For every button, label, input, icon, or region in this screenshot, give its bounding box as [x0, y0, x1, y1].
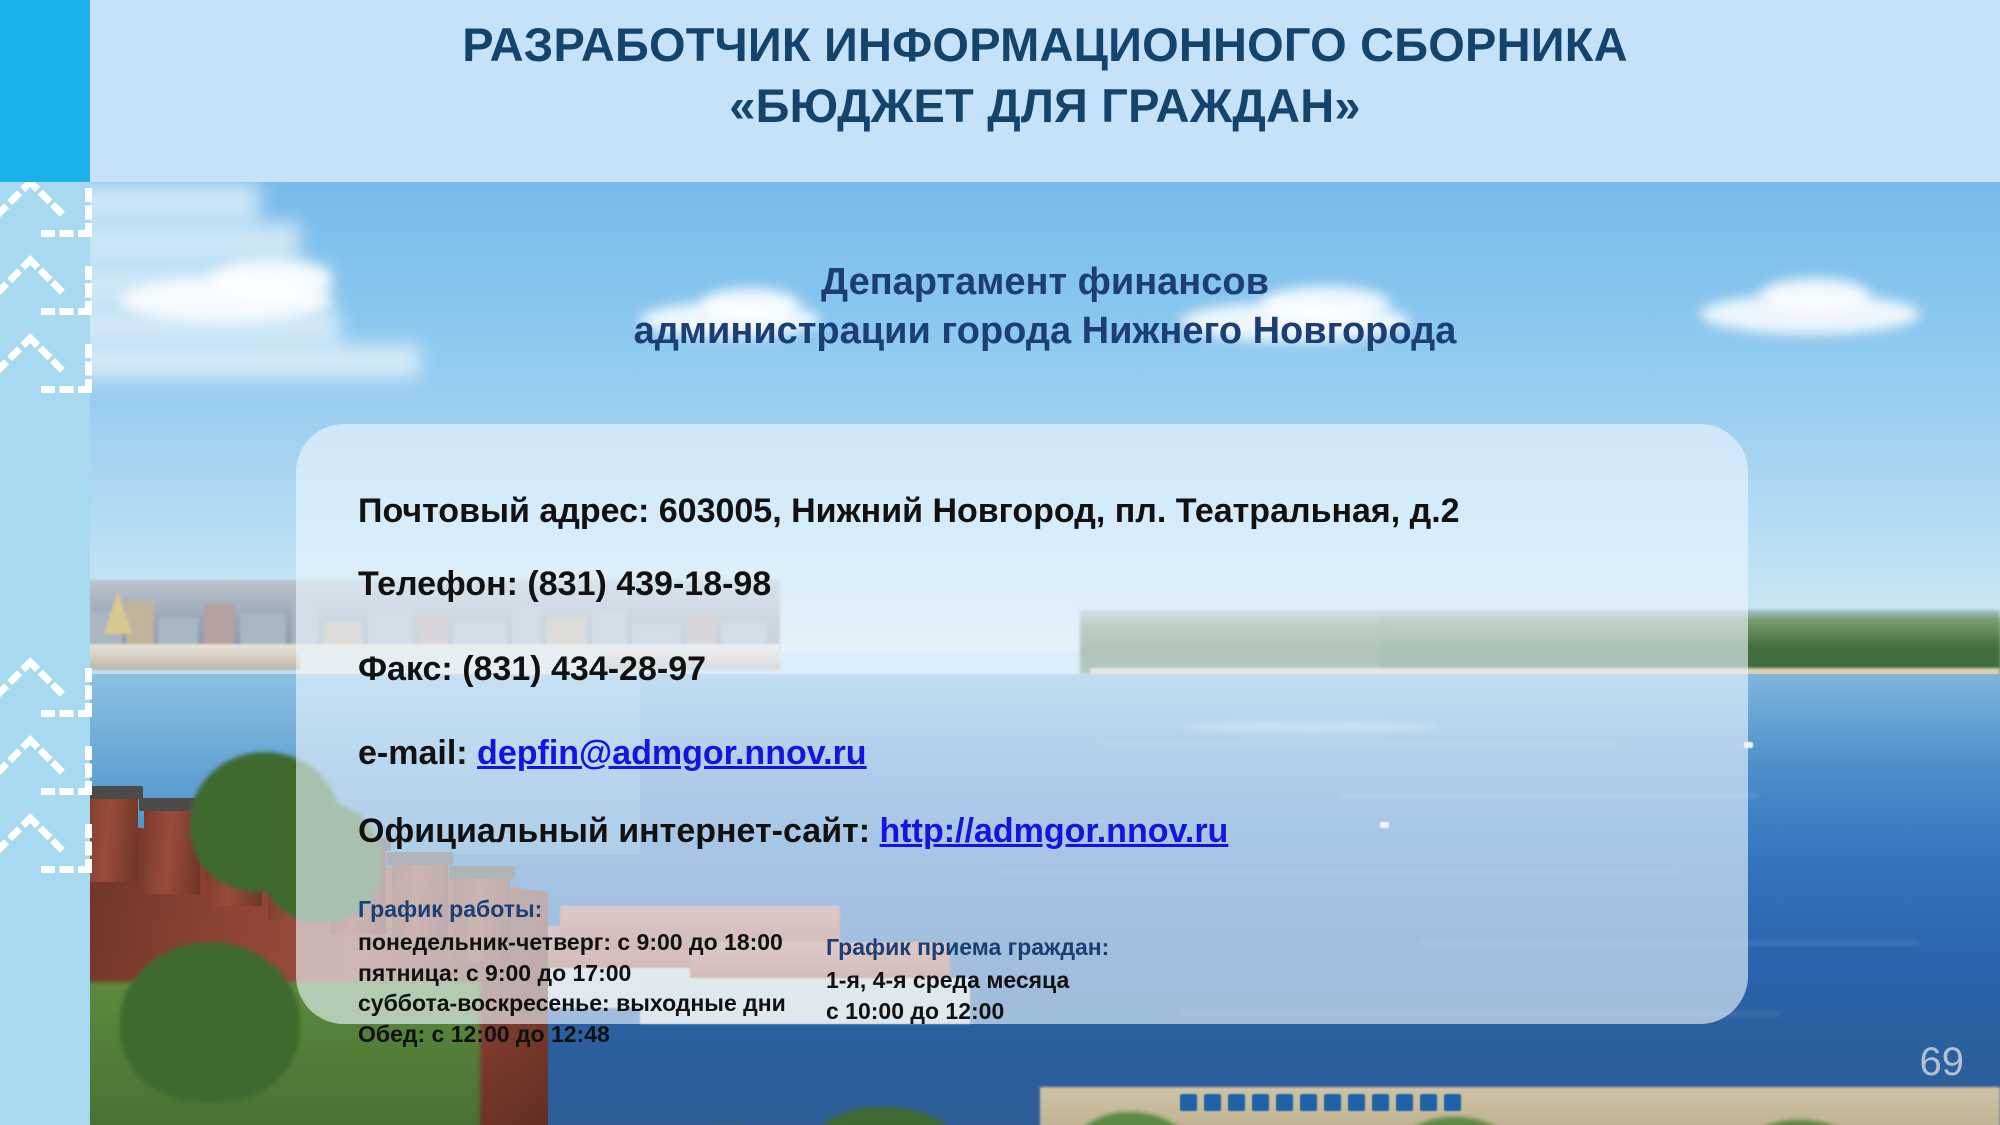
- phone-value: (831) 439-18-98: [527, 565, 771, 603]
- reception-schedule-row: 1-я, 4-я среда месяца: [826, 967, 1069, 993]
- contact-card: Почтовый адрес: 603005, Нижний Новгород,…: [296, 424, 1748, 1024]
- postal-address-value: 603005, Нижний Новгород, пл. Театральная…: [659, 492, 1460, 530]
- website-label: Официальный интернет-сайт:: [358, 812, 880, 850]
- slide-header: РАЗРАБОТЧИК ИНФОРМАЦИОННОГО СБОРНИКА «БЮ…: [0, 0, 2000, 182]
- page-title-line1: РАЗРАБОТЧИК ИНФОРМАЦИОННОГО СБОРНИКА: [462, 18, 1628, 71]
- header-accent-bar: [0, 0, 90, 182]
- left-rail: [0, 182, 90, 1125]
- fax-label: Факс:: [358, 650, 462, 688]
- reception-schedule-heading: График приема граждан:: [826, 932, 1109, 963]
- chevron-down-icon: [0, 340, 90, 402]
- postal-address-row: Почтовый адрес: 603005, Нижний Новгород,…: [358, 494, 1460, 528]
- website-link[interactable]: http://admgor.nnov.ru: [880, 812, 1229, 850]
- cabin: [1420, 1094, 1437, 1111]
- chevron-down-icon: [0, 664, 90, 726]
- email-label: e-mail:: [358, 734, 477, 772]
- fax-row: Факс: (831) 434-28-97: [358, 652, 706, 686]
- cabin: [1300, 1094, 1317, 1111]
- chevron-down-icon: [0, 184, 90, 246]
- page-title: РАЗРАБОТЧИК ИНФОРМАЦИОННОГО СБОРНИКА «БЮ…: [90, 14, 2000, 136]
- page-number: 69: [1920, 1040, 1965, 1085]
- cabin: [1324, 1094, 1341, 1111]
- phone-row: Телефон: (831) 439-18-98: [358, 567, 771, 601]
- contact-card-content: Почтовый адрес: 603005, Нижний Новгород,…: [326, 454, 1718, 1004]
- cathedral-spire: [104, 590, 132, 634]
- organization-line2: администрации города Нижнего Новгорода: [90, 307, 2000, 356]
- email-row: e-mail: depfin@admgor.nnov.ru: [358, 736, 867, 770]
- reception-schedule-block: График приема граждан: 1-я, 4-я среда ме…: [826, 932, 1109, 1026]
- work-schedule-row: Обед: с 12:00 до 12:48: [358, 1021, 610, 1047]
- page-title-line2: «БЮДЖЕТ ДЛЯ ГРАЖДАН»: [90, 75, 2000, 136]
- organization-subtitle: Департамент финансов администрации город…: [90, 258, 2000, 355]
- fax-value: (831) 434-28-97: [462, 650, 706, 688]
- work-schedule-row: пятница: с 9:00 до 17:00: [358, 960, 631, 986]
- cabin: [1228, 1094, 1245, 1111]
- phone-label: Телефон:: [358, 565, 527, 603]
- email-link[interactable]: depfin@admgor.nnov.ru: [477, 734, 867, 772]
- beach-cabins: [1180, 1094, 1880, 1114]
- cabin: [1180, 1094, 1197, 1111]
- cabin: [1276, 1094, 1293, 1111]
- work-schedule-row: понедельник-четверг: с 9:00 до 18:00: [358, 929, 783, 955]
- cabin: [1204, 1094, 1221, 1111]
- chevron-down-icon: [0, 742, 90, 804]
- cabin: [1252, 1094, 1269, 1111]
- cabin: [1396, 1094, 1413, 1111]
- website-row: Официальный интернет-сайт: http://admgor…: [358, 814, 1228, 848]
- slide-root: РАЗРАБОТЧИК ИНФОРМАЦИОННОГО СБОРНИКА «БЮ…: [0, 0, 2000, 1125]
- cabin: [1348, 1094, 1365, 1111]
- organization-line1: Департамент финансов: [821, 261, 1269, 303]
- work-schedule-block: График работы: понедельник-четверг: с 9:…: [358, 894, 786, 1050]
- postal-address-label: Почтовый адрес:: [358, 492, 659, 530]
- reception-schedule-row: с 10:00 до 12:00: [826, 998, 1004, 1024]
- work-schedule-row: суббота-воскресенье: выходные дни: [358, 990, 786, 1016]
- work-schedule-heading: График работы:: [358, 894, 786, 925]
- tree: [120, 942, 300, 1102]
- cabin: [1444, 1094, 1461, 1111]
- chevron-down-icon: [0, 820, 90, 882]
- cabin: [1372, 1094, 1389, 1111]
- chevron-down-icon: [0, 262, 90, 324]
